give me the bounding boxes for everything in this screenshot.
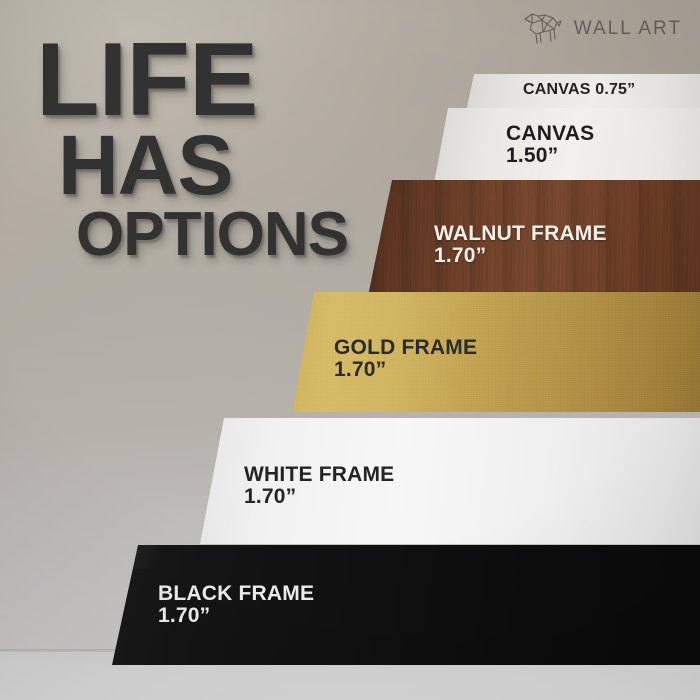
option-white-frame[interactable]: WHITE FRAME 1.70” [200, 418, 700, 544]
option-label: GOLD FRAME 1.70” [334, 337, 477, 381]
option-label: WHITE FRAME 1.70” [244, 464, 394, 508]
page-title: LIFE HAS OPTIONS [36, 36, 396, 261]
option-label: CANVAS 0.75” [523, 82, 635, 99]
option-walnut-frame[interactable]: WALNUT FRAME 1.70” [368, 180, 700, 296]
origami-goat-icon [521, 12, 565, 46]
headline-line-2: HAS [58, 129, 396, 201]
headline-line-1: LIFE [36, 36, 396, 125]
option-gold-frame[interactable]: GOLD FRAME 1.70” [292, 292, 700, 412]
promo-image: LIFE HAS OPTIONS CANVAS 0.75” CANVAS 1.5… [0, 0, 700, 700]
option-canvas-150[interactable]: CANVAS 1.50” [434, 108, 700, 184]
option-black-frame[interactable]: BLACK FRAME 1.70” [112, 545, 700, 665]
brand-logo[interactable]: WALL ART [521, 12, 682, 46]
headline-line-3: OPTIONS [76, 208, 396, 261]
brand-name: WALL ART [574, 18, 682, 40]
option-canvas-075[interactable]: CANVAS 0.75” [466, 74, 700, 112]
option-label: CANVAS 1.50” [506, 123, 594, 167]
option-label: WALNUT FRAME 1.70” [434, 223, 607, 267]
option-label: BLACK FRAME 1.70” [158, 583, 314, 627]
